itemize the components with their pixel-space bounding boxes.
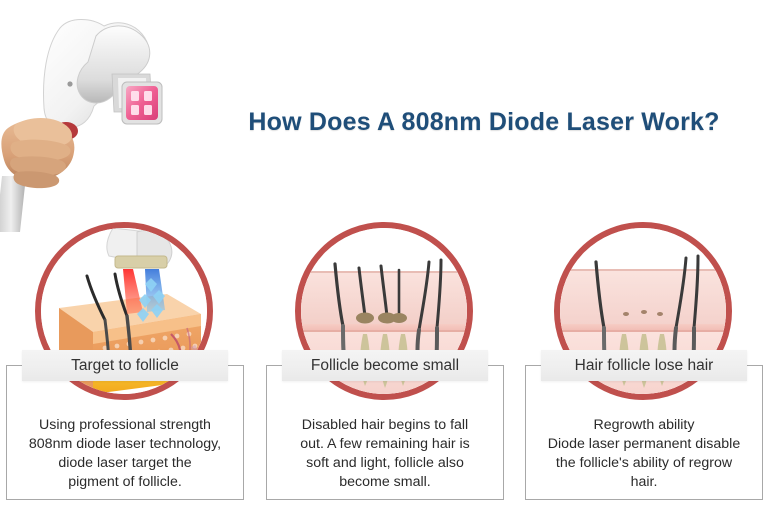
panel-target-to-follicle: Using professional strength 808nm diode … — [6, 222, 244, 502]
tip-window — [115, 256, 167, 268]
panel-text-card: Disabled hair begins to fall out. A few … — [266, 365, 504, 500]
panel-follicle-become-small: Disabled hair begins to fall out. A few … — [266, 222, 504, 502]
empty-pore — [641, 310, 647, 314]
panel-label: Follicle become small — [311, 357, 459, 375]
panel-label: Target to follicle — [71, 357, 179, 375]
body-line: 808nm diode laser technology, — [13, 435, 237, 454]
panel-text-card: Regrowth ability Diode laser permanent d… — [525, 365, 763, 500]
body-line: the follicle's ability of regrow — [532, 454, 756, 473]
panel-text-card: Using professional strength 808nm diode … — [6, 365, 244, 500]
panel-body-text: Disabled hair begins to fall out. A few … — [273, 416, 497, 492]
panel-hair-follicle-lose-hair: Regrowth ability Diode laser permanent d… — [525, 222, 763, 502]
panel-body-text: Regrowth ability Diode laser permanent d… — [532, 416, 756, 492]
body-line: Regrowth ability — [532, 416, 756, 435]
page-title: How Does A 808nm Diode Laser Work? — [210, 108, 758, 137]
body-line: Diode laser permanent disable — [532, 435, 756, 454]
laser-handpiece-image — [0, 0, 220, 232]
laser-bar — [144, 91, 152, 101]
body-line: pigment of follicle. — [13, 473, 237, 492]
empty-pore — [623, 312, 629, 316]
body-line: soft and light, follicle also — [273, 454, 497, 473]
device-button-dot — [67, 81, 72, 86]
panel-label-bar: Hair follicle lose hair — [541, 350, 747, 381]
empty-pore — [657, 312, 663, 316]
panel-label: Hair follicle lose hair — [575, 357, 714, 375]
epidermis-layer — [560, 270, 726, 328]
laser-tip-glow — [126, 86, 158, 120]
body-line: diode laser target the — [13, 454, 237, 473]
laser-bar — [131, 105, 139, 115]
body-line: become small. — [273, 473, 497, 492]
panel-body-text: Using professional strength 808nm diode … — [13, 416, 237, 492]
body-line: out. A few remaining hair is — [273, 435, 497, 454]
laser-bar — [144, 105, 152, 115]
body-line: hair. — [532, 473, 756, 492]
body-line: Disabled hair begins to fall — [273, 416, 497, 435]
body-line: Using professional strength — [13, 416, 237, 435]
laser-bar — [131, 91, 139, 101]
panel-label-bar: Follicle become small — [282, 350, 488, 381]
panel-label-bar: Target to follicle — [22, 350, 228, 381]
